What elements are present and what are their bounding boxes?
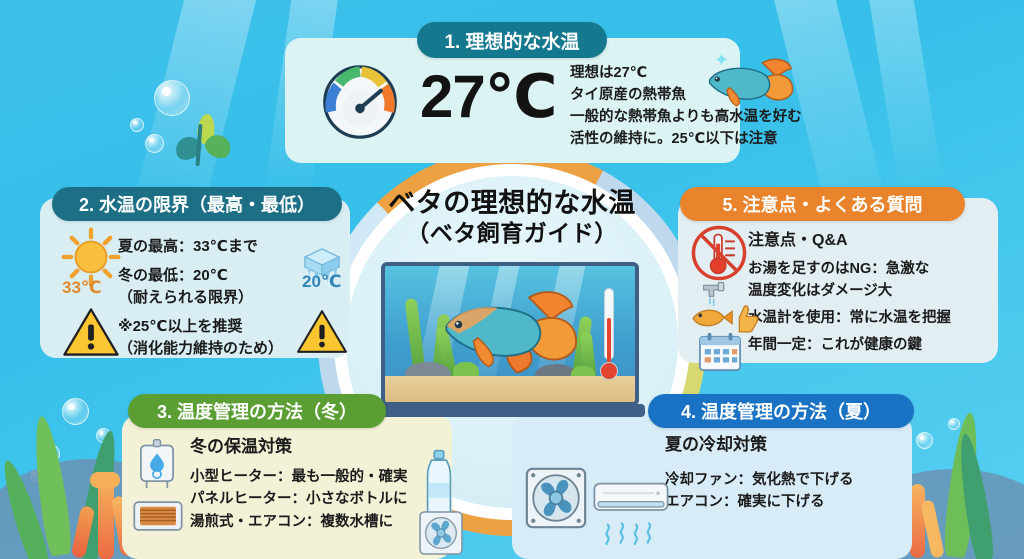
no-hot-water-icon (690, 224, 748, 282)
section-3-line: 小型ヒーター：最も一般的・確実 (190, 466, 408, 489)
fan-icon (418, 510, 464, 556)
warning-triangle-icon (296, 308, 348, 355)
section-1-line: 活性の維持に。25℃以下は注意 (570, 128, 802, 150)
section-3-lines: 冬の保温対策 小型ヒーター：最も一般的・確実 パネルヒーター：小さなボトルに 湯… (190, 434, 408, 533)
section-5-pill[interactable]: 5. 注意点・よくある質問 (680, 187, 965, 221)
section-4-heading: 夏の冷却対策 (665, 432, 854, 459)
section-3-pill[interactable]: 3. 温度管理の方法（冬） (128, 394, 386, 428)
section-5-heading: 注意点・Q&A (748, 229, 951, 253)
calendar-icon (696, 330, 744, 373)
tank-sand (385, 376, 635, 402)
section-2-line: （耐えられる限界） (118, 287, 283, 310)
section-3-line: 湯煎式・エアコン：複数水槽に (190, 511, 408, 534)
thermometer-icon (599, 288, 619, 380)
air-conditioner-icon (592, 478, 670, 524)
section-5-lines: 注意点・Q&A お湯を足すのはNG：急激な 温度変化はダメージ大 水温計を使用：… (748, 229, 951, 356)
ideal-temperature-value: 27℃ (420, 62, 556, 132)
section-5-line: 年間一定：これが健康の鍵 (748, 334, 951, 356)
section-2-pill[interactable]: 2. 水温の限界（最高・最低） (52, 187, 342, 221)
water-heater-icon (134, 436, 180, 494)
cooling-fan-icon (524, 466, 588, 530)
section-2-line: 冬の最低：20℃ (118, 265, 283, 288)
light-ray (860, 0, 943, 190)
panel-heater-icon (132, 498, 184, 534)
section-5-line: 水温計を使用：常に水温を把握 (748, 307, 951, 329)
tank-glass (381, 262, 639, 406)
cool-air-waves-icon (600, 522, 658, 548)
section-5-line: 温度変化はダメージ大 (748, 280, 951, 302)
gauge-icon (320, 62, 400, 142)
section-2-line: ※25℃以上を推奨 (118, 316, 283, 339)
section-4-line: エアコン：確実に下げる (665, 491, 854, 514)
section-1-pill[interactable]: 1. 理想的な水温 (417, 22, 607, 58)
max-temp-badge: 33℃ (62, 278, 102, 298)
bubble-icon (145, 134, 164, 153)
section-5-line: お湯を足すのはNG：急激な (748, 258, 951, 280)
warning-triangle-icon (62, 306, 120, 358)
section-3-line: パネルヒーター：小さなボトルに (190, 488, 408, 511)
section-3-heading: 冬の保温対策 (190, 434, 408, 461)
section-4-pill[interactable]: 4. 温度管理の方法（夏） (648, 394, 914, 428)
min-temp-badge: 20℃ (302, 272, 342, 292)
section-2-line: 夏の最高：33℃まで (118, 236, 283, 259)
sparkle-icon: ✦ (714, 50, 729, 71)
section-2-line: （消化能力維持のため） (118, 338, 283, 361)
seaweed-decoration (170, 112, 230, 168)
section-2-lines: 夏の最高：33℃まで 冬の最低：20℃ （耐えられる限界） ※25℃以上を推奨 … (118, 236, 283, 361)
tank-stand (375, 404, 645, 417)
section-4-lines: 夏の冷却対策 冷却ファン：気化熱で下げる エアコン：確実に下げる (665, 432, 854, 514)
bubble-icon (154, 80, 190, 116)
aquarium-tank (381, 262, 639, 406)
bubble-icon (130, 118, 144, 132)
betta-fish-icon (433, 284, 583, 374)
section-4-line: 冷却ファン：気化熱で下げる (665, 469, 854, 492)
infographic-canvas: ベタの理想的な水温 （ベタ飼育ガイド） (0, 0, 1024, 559)
